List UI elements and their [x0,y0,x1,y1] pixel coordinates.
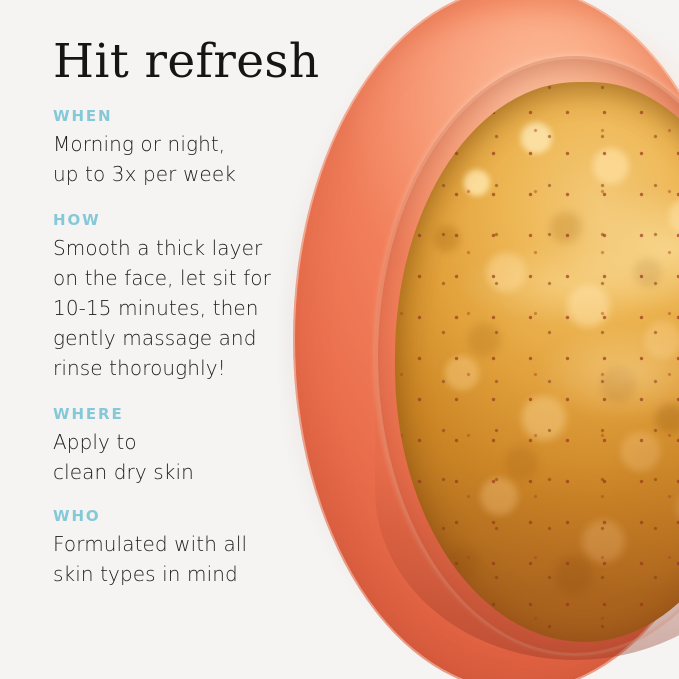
product-instructions-card: Hit refresh WHEN Morning or night, up to… [0,0,679,679]
section-where: WHERE Apply to clean dry skin [53,405,353,487]
paste-spice-specks [395,82,679,642]
section-body-where: Apply to clean dry skin [53,427,353,487]
page-title: Hit refresh [53,0,353,85]
face-mask-paste [395,82,679,642]
section-label-how: HOW [53,211,353,229]
section-when: WHEN Morning or night, up to 3x per week [53,107,353,189]
section-label-where: WHERE [53,405,353,423]
section-body-how: Smooth a thick layer on the face, let si… [53,233,353,383]
section-how: HOW Smooth a thick layer on the face, le… [53,211,353,383]
section-body-when: Morning or night, up to 3x per week [53,129,353,189]
section-who: WHO Formulated with all skin types in mi… [53,507,353,589]
instructions-copy: Hit refresh WHEN Morning or night, up to… [53,0,353,589]
section-label-who: WHO [53,507,353,525]
section-body-who: Formulated with all skin types in mind [53,529,353,589]
section-label-when: WHEN [53,107,353,125]
